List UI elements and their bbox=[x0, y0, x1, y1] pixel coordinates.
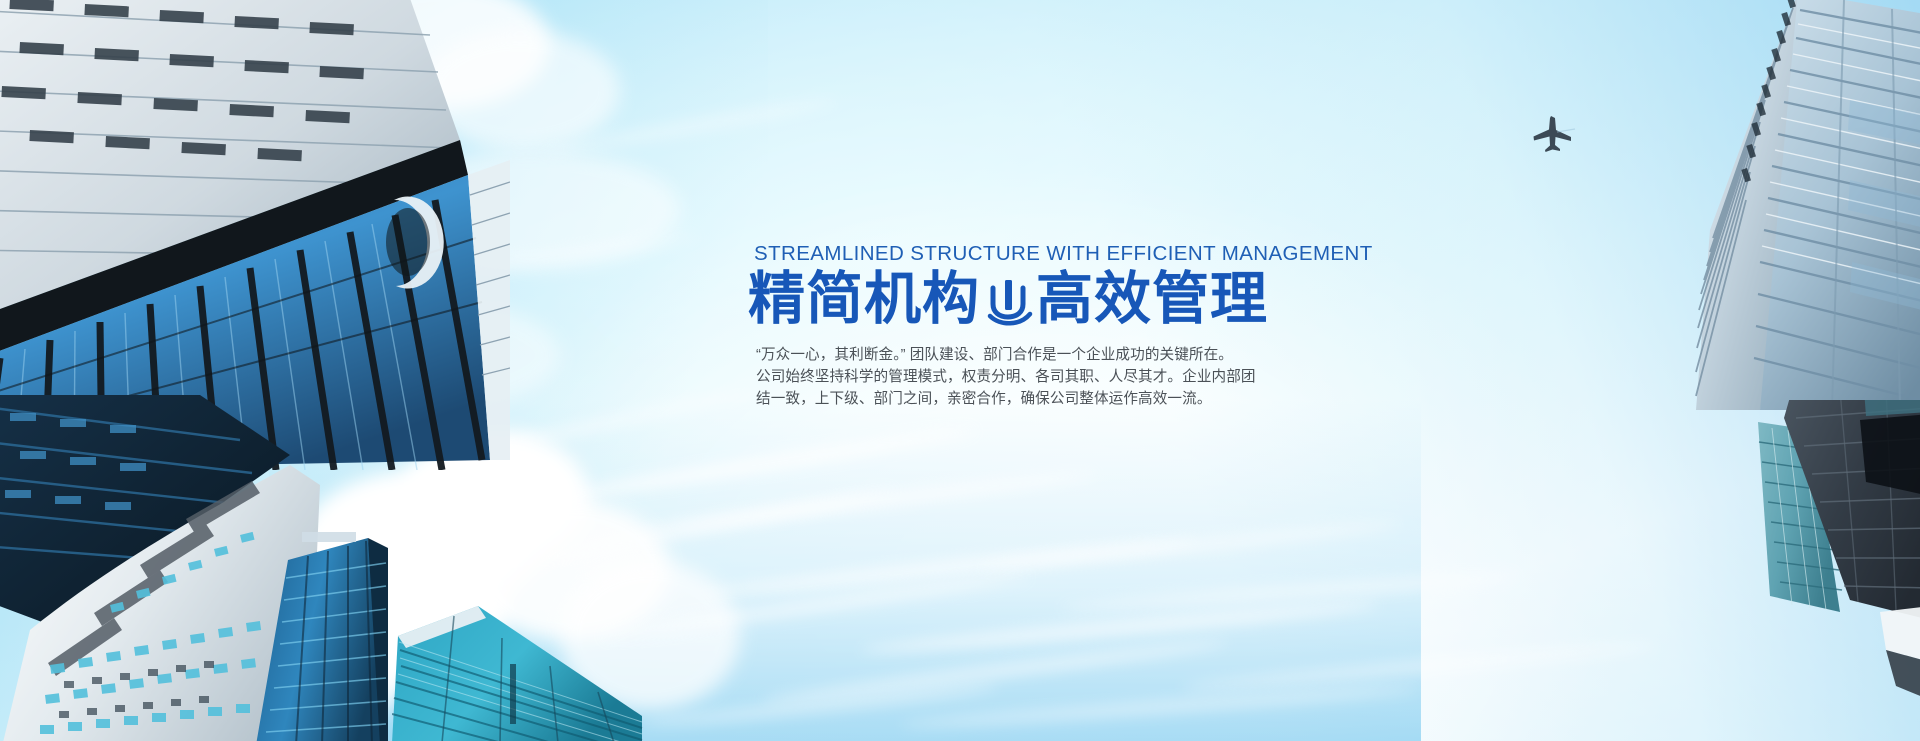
swoosh-mark-icon bbox=[980, 274, 1036, 330]
paragraph-line-1: “万众一心，其利断金。” 团队建设、部门合作是一个企业成功的关键所在。 bbox=[756, 345, 1308, 367]
banner-copy: STREAMLINED STRUCTURE WITH EFFICIENT MAN… bbox=[748, 243, 1308, 410]
headline-left-text: 精简机构 bbox=[748, 268, 980, 332]
teal-glass-tower bbox=[392, 588, 652, 741]
banner-paragraph: “万众一心，其利断金。” 团队建设、部门合作是一个企业成功的关键所在。 公司始终… bbox=[756, 345, 1308, 410]
glass-skyscraper-right bbox=[1600, 0, 1920, 410]
headline-right-text: 高效管理 bbox=[1036, 268, 1268, 332]
airplane-icon bbox=[1527, 112, 1579, 156]
dark-stone-tower bbox=[1700, 400, 1920, 741]
paragraph-line-2: 公司始终坚持科学的管理模式，权责分明、各司其职、人尽其才。企业内部团 bbox=[756, 367, 1308, 389]
banner-eyebrow: STREAMLINED STRUCTURE WITH EFFICIENT MAN… bbox=[754, 243, 1308, 266]
paragraph-line-3: 结一致，上下级、部门之间，亲密合作，确保公司整体运作高效一流。 bbox=[756, 389, 1308, 411]
banner-stage: STREAMLINED STRUCTURE WITH EFFICIENT MAN… bbox=[0, 0, 1920, 741]
banner-headline: 精简机构 高效管理 bbox=[748, 268, 1308, 332]
